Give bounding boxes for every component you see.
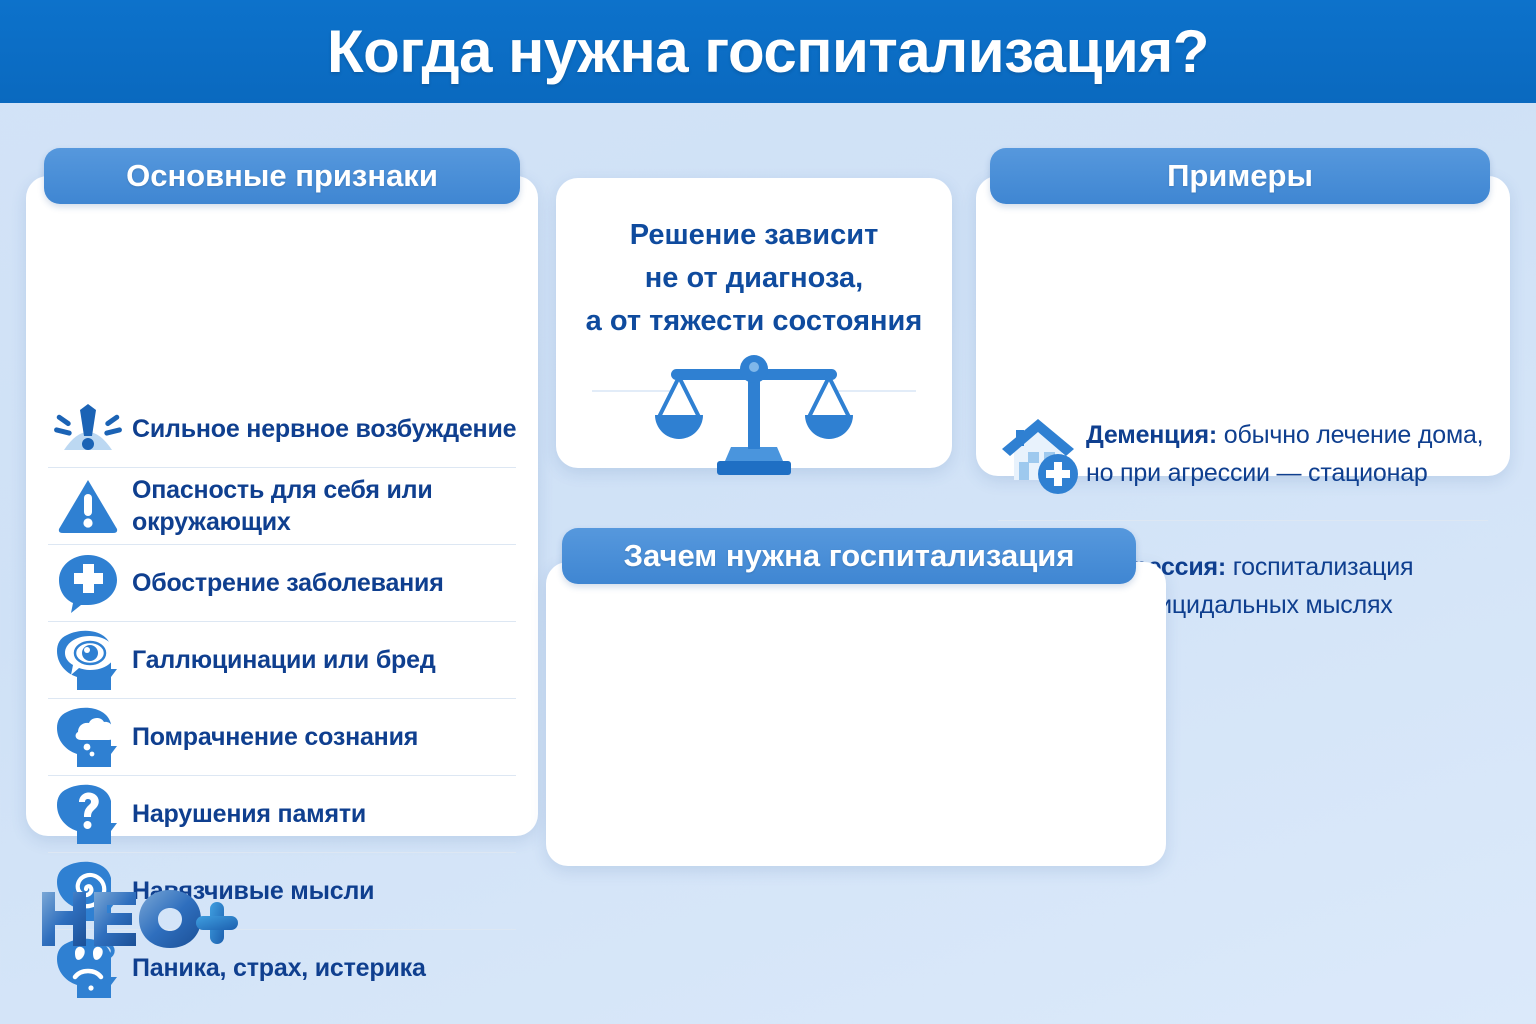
list-item-label: Нарушения памяти xyxy=(132,798,366,830)
list-item[interactable]: Опасность для себя или окружающих xyxy=(26,467,538,544)
page-header: Когда нужна госпитализация? xyxy=(0,0,1536,103)
scales-balance-icon xyxy=(649,343,859,480)
list-item[interactable]: Галлюцинации или бред xyxy=(26,621,538,698)
warning-triangle-icon xyxy=(44,471,132,541)
signs-panel-title: Основные признаки xyxy=(126,158,438,194)
neo-plus-logo xyxy=(38,888,238,950)
exclamation-burst-icon xyxy=(44,394,132,464)
example-lead: Деменция: xyxy=(1086,421,1217,449)
why-panel-title: Зачем нужна госпитализация xyxy=(624,538,1075,574)
example-rest: обычно лечение дома, xyxy=(1217,421,1483,449)
list-item[interactable]: Обострение заболевания xyxy=(26,544,538,621)
list-item-label: Опасность для себя или окружающих xyxy=(132,474,520,538)
decision-text: Решение зависит не от диагноза, а от тяж… xyxy=(556,214,952,343)
why-panel: Обеспечение безопасности Контроль состоя… xyxy=(546,562,1166,866)
example-line2: но при агрессии — стационар xyxy=(1086,457,1483,489)
examples-panel: Деменция: обычно лечение дома, но при аг… xyxy=(976,176,1510,476)
head-eye-bubble-icon xyxy=(44,625,132,695)
head-cloud-icon xyxy=(44,702,132,772)
house-medical-icon xyxy=(994,408,1086,500)
list-item[interactable]: Сильное нервное возбуждение xyxy=(26,390,538,467)
signs-panel-header: Основные признаки xyxy=(44,148,520,204)
list-item[interactable]: Нарушения памяти xyxy=(26,775,538,852)
example-rest: госпитализация xyxy=(1226,553,1413,581)
list-item-label: Паника, страх, истерика xyxy=(132,952,426,984)
list-item[interactable]: Помрачнение сознания xyxy=(26,698,538,775)
examples-panel-title: Примеры xyxy=(1167,158,1313,194)
examples-panel-header: Примеры xyxy=(990,148,1490,204)
list-item-label: Деменция: обычно лечение дома, но при аг… xyxy=(1086,419,1483,489)
list-item[interactable]: Деменция: обычно лечение дома, но при аг… xyxy=(976,388,1510,520)
decision-line-2: не от диагноза, xyxy=(556,257,952,300)
why-panel-header: Зачем нужна госпитализация xyxy=(562,528,1136,584)
signs-panel: Сильное нервное возбуждение Опасность дл… xyxy=(26,176,538,836)
page-title: Когда нужна госпитализация? xyxy=(327,17,1209,86)
list-item-label: Галлюцинации или бред xyxy=(132,644,436,676)
list-item-label: Сильное нервное возбуждение xyxy=(132,413,516,445)
decision-line-3: а от тяжести состояния xyxy=(556,300,952,343)
list-item-label: Помрачнение сознания xyxy=(132,721,418,753)
list-item-label: Обострение заболевания xyxy=(132,567,444,599)
decision-card: Решение зависит не от диагноза, а от тяж… xyxy=(556,178,952,468)
decision-line-1: Решение зависит xyxy=(556,214,952,257)
medical-cross-bubble-icon xyxy=(44,548,132,618)
head-question-icon xyxy=(44,779,132,849)
